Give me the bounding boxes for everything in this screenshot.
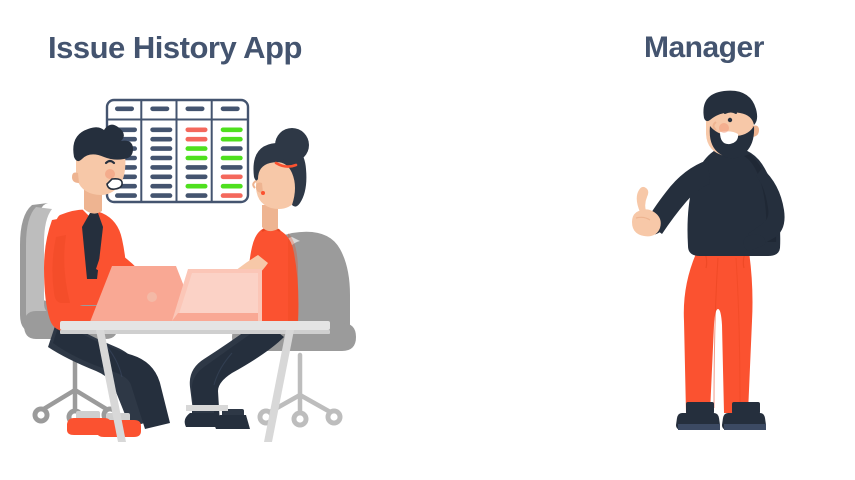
woman-hair-bun <box>275 128 309 162</box>
table-header-cell <box>221 107 240 112</box>
table-header-cell <box>186 107 205 112</box>
page-title-issue-history-app: Issue History App <box>48 30 302 66</box>
standing-manager-illustration <box>620 90 820 445</box>
trouser-cuff <box>686 402 714 414</box>
desk-top <box>60 321 330 330</box>
table-cell-green <box>221 137 243 142</box>
table-cell-navy <box>150 137 172 142</box>
table-cell-red <box>186 128 208 133</box>
manager-cheek <box>719 123 729 133</box>
table-cell-navy <box>150 175 172 180</box>
woman-earring <box>261 191 265 195</box>
laptop-logo <box>147 292 157 302</box>
man-ear <box>72 173 79 184</box>
table-cell-navy <box>186 175 208 180</box>
scene-canvas: Issue History App Manager <box>0 0 855 480</box>
table-header-cell <box>115 107 134 112</box>
table-cell-navy <box>150 184 172 189</box>
figure-standing-manager <box>632 91 785 430</box>
table-cell-navy <box>221 146 243 151</box>
manager-thumb <box>637 187 649 212</box>
table-cell-navy <box>115 193 137 198</box>
shoe-sole <box>678 424 720 430</box>
table-cell-navy <box>150 165 172 170</box>
laptop-right <box>172 269 262 321</box>
caster-hub <box>330 413 337 420</box>
table-cell-green <box>221 128 243 133</box>
woman-shoe <box>185 413 220 427</box>
table-cell-red <box>221 193 243 198</box>
table-cell-navy <box>186 193 208 198</box>
caster-hub <box>296 415 303 422</box>
laptop-screen <box>178 273 258 317</box>
table-cell-navy <box>150 193 172 198</box>
table-cell-green <box>186 184 208 189</box>
laptop-base <box>172 313 258 321</box>
page-title-manager: Manager <box>644 31 764 65</box>
table-cell-navy <box>221 165 243 170</box>
shoe-sole <box>724 424 766 430</box>
trouser-cuff <box>732 402 760 414</box>
table-cell-red <box>186 137 208 142</box>
table-cell-green <box>186 156 208 161</box>
chair-footrest <box>186 405 228 411</box>
table-cell-navy <box>186 165 208 170</box>
table-cell-green <box>186 146 208 151</box>
man-cheek <box>105 169 115 179</box>
table-cell-green <box>221 156 243 161</box>
table-header-cell <box>150 107 169 112</box>
table-cell-navy <box>150 128 172 133</box>
woman-nose <box>253 181 256 188</box>
manager-eye <box>728 118 732 122</box>
office-meeting-illustration <box>0 85 400 445</box>
manager-trousers <box>684 245 753 413</box>
woman-shoe <box>215 415 250 429</box>
table-cell-navy <box>150 146 172 151</box>
table-cell-red <box>221 175 243 180</box>
table-cell-green <box>221 184 243 189</box>
caster-hub <box>37 411 44 418</box>
table-cell-navy <box>150 156 172 161</box>
